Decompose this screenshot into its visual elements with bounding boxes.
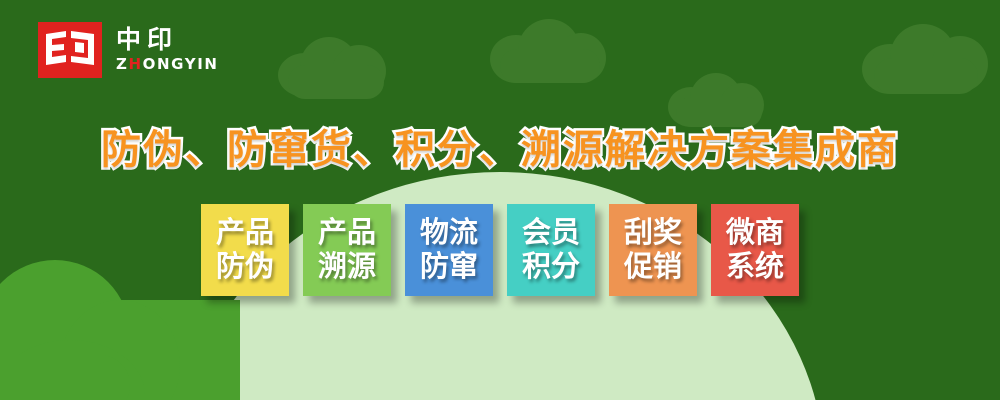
service-badge[interactable]: 产品溯源 — [303, 204, 391, 296]
brand-name-en-suffix: ONGYIN — [143, 55, 219, 73]
service-badge-line1: 物流 — [420, 216, 478, 250]
brand-name-en-highlight: H — [128, 55, 142, 73]
service-badge[interactable]: 产品防伪 — [201, 204, 289, 296]
brand-name-en: ZHONGYIN — [116, 56, 219, 73]
service-badge-line2: 防窜 — [420, 250, 478, 284]
cloud-shape-3 — [668, 65, 778, 125]
service-badge-line2: 系统 — [726, 250, 784, 284]
service-badge[interactable]: 微商系统 — [711, 204, 799, 296]
page-title: 防伪、防窜货、积分、溯源解决方案集成商 — [0, 117, 1000, 175]
service-badge-line1: 产品 — [216, 216, 274, 250]
service-badge[interactable]: 刮奖促销 — [609, 204, 697, 296]
bush-cluster-left-low — [0, 355, 130, 400]
cloud-shape-2 — [490, 15, 620, 85]
service-badge-line2: 溯源 — [318, 250, 376, 284]
zhongyin-book-logo-icon — [38, 22, 102, 78]
brand-name-cn: 中印 — [116, 27, 219, 53]
service-badge[interactable]: 会员积分 — [507, 204, 595, 296]
brand-wordmark: 中印 ZHONGYIN — [116, 27, 219, 73]
service-badge[interactable]: 物流防窜 — [405, 204, 493, 296]
service-badge-line1: 产品 — [318, 216, 376, 250]
banner-root: 中印 ZHONGYIN 防伪、防窜货、积分、溯源解决方案集成商 产品防伪产品溯源… — [0, 0, 1000, 400]
service-badge-line1: 刮奖 — [624, 216, 682, 250]
service-badge-line1: 会员 — [522, 216, 580, 250]
service-badge-line1: 微商 — [726, 216, 784, 250]
brand-logo[interactable]: 中印 ZHONGYIN — [38, 22, 219, 78]
service-badge-line2: 积分 — [522, 250, 580, 284]
cloud-shape-1 — [278, 25, 408, 95]
cloud-shape-4 — [862, 20, 992, 92]
brand-name-en-prefix: Z — [116, 55, 128, 73]
service-badge-line2: 促销 — [624, 250, 682, 284]
service-badge-line2: 防伪 — [216, 250, 274, 284]
service-badge-row: 产品防伪产品溯源物流防窜会员积分刮奖促销微商系统 — [0, 204, 1000, 296]
